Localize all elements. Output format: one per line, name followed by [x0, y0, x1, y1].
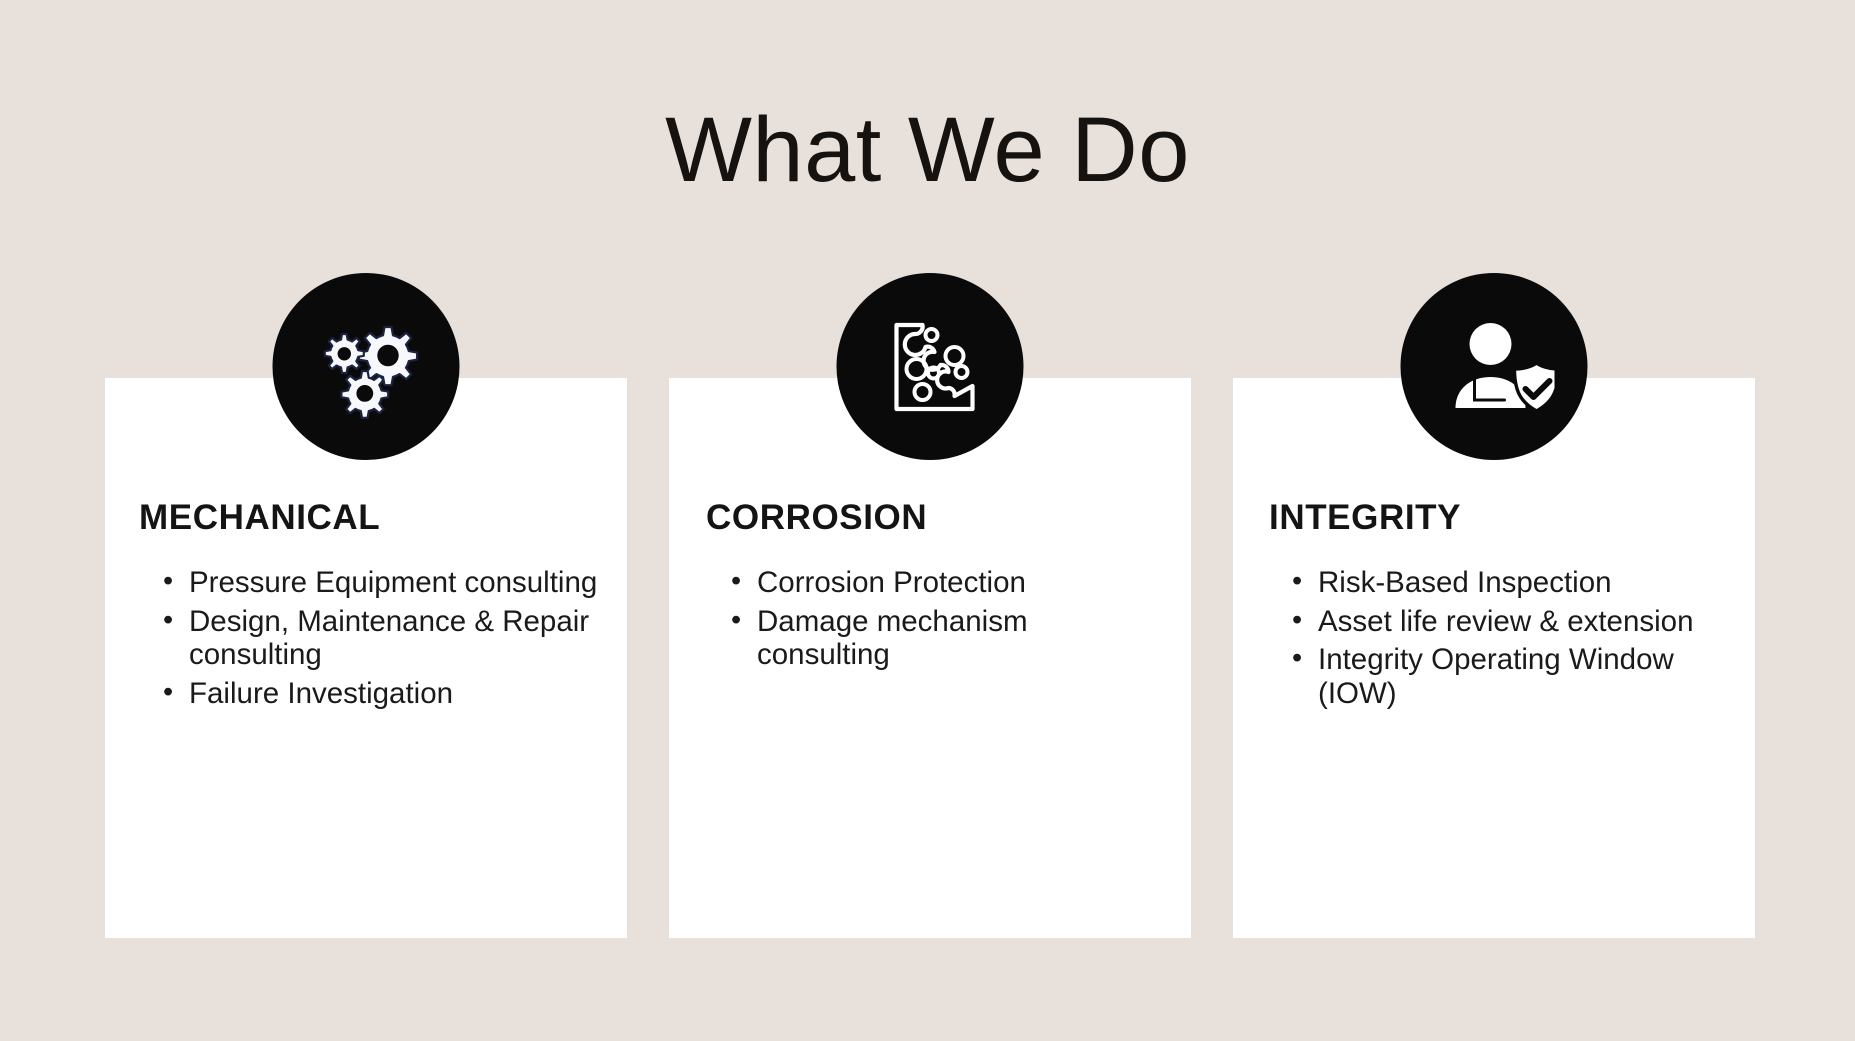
service-card-integrity[interactable]: INTEGRITY Risk-Based Inspection Asset li… — [1233, 378, 1755, 938]
service-card-mechanical[interactable]: MECHANICAL Pressure Equipment consulting… — [105, 378, 627, 938]
card-title: CORROSION — [706, 500, 1171, 535]
slide: What We Do — [0, 0, 1855, 1041]
service-card-corrosion[interactable]: CORROSION Corrosion Protection Damage me… — [669, 378, 1191, 938]
list-item: Design, Maintenance & Repair consulting — [189, 605, 603, 672]
list-item: Failure Investigation — [189, 677, 603, 711]
card-bullet-list: Pressure Equipment consulting Design, Ma… — [141, 566, 603, 716]
list-item: Risk-Based Inspection — [1318, 566, 1731, 600]
list-item: Damage mechanism consulting — [757, 605, 1167, 672]
page-title: What We Do — [0, 104, 1855, 196]
card-title: INTEGRITY — [1269, 500, 1735, 535]
card-bullet-list: Risk-Based Inspection Asset life review … — [1270, 566, 1731, 716]
service-cards-row: MECHANICAL Pressure Equipment consulting… — [105, 378, 1755, 938]
list-item: Integrity Operating Window (IOW) — [1318, 643, 1731, 710]
gears-icon — [273, 273, 460, 460]
list-item: Asset life review & extension — [1318, 605, 1731, 639]
person-shield-check-icon — [1401, 273, 1588, 460]
corrosion-pitting-icon — [837, 273, 1024, 460]
card-title: MECHANICAL — [139, 500, 607, 535]
list-item: Corrosion Protection — [757, 566, 1167, 600]
card-bullet-list: Corrosion Protection Damage mechanism co… — [709, 566, 1167, 677]
list-item: Pressure Equipment consulting — [189, 566, 603, 600]
